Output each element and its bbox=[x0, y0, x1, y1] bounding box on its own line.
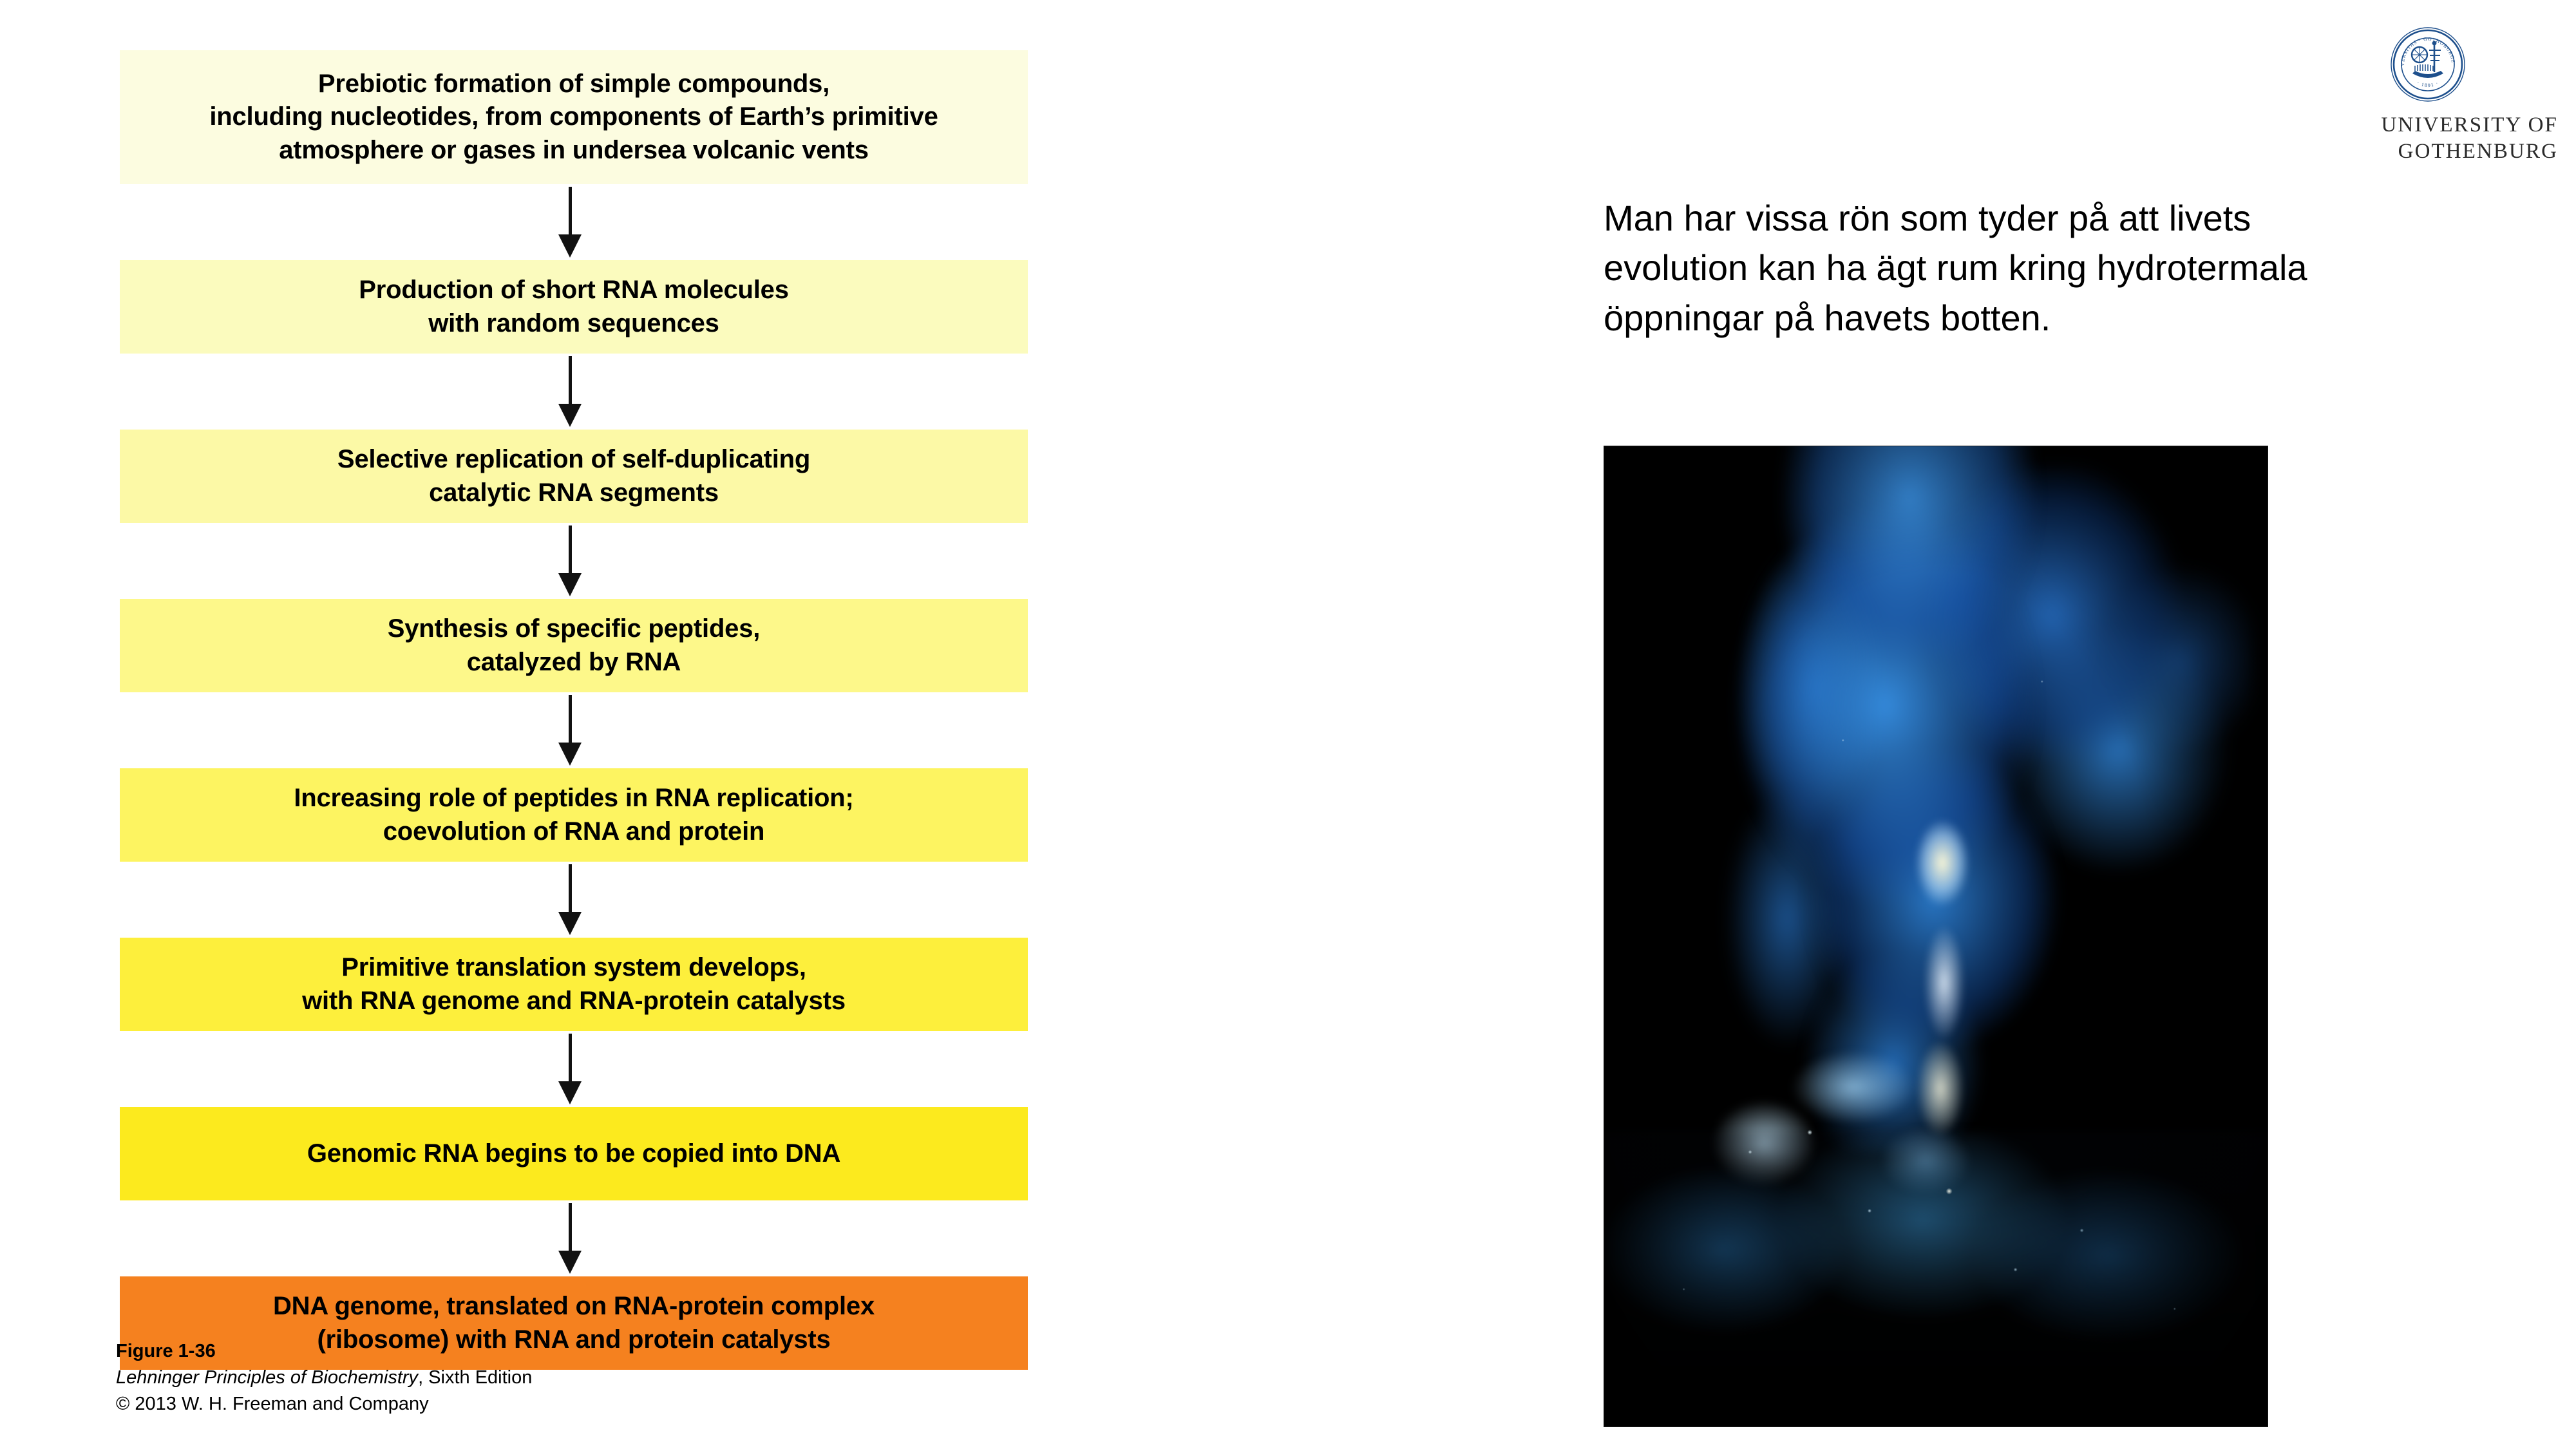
down-arrow-icon bbox=[120, 1031, 1028, 1107]
flow-step-line: coevolution of RNA and protein bbox=[383, 815, 765, 848]
book-edition: , Sixth Edition bbox=[418, 1367, 532, 1388]
svg-text:· 1891 ·: · 1891 · bbox=[2416, 80, 2440, 88]
down-arrow-icon bbox=[120, 862, 1028, 938]
flow-step-box: Increasing role of peptides in RNA repli… bbox=[120, 768, 1028, 862]
flow-step-line: including nucleotides, from components o… bbox=[209, 100, 938, 133]
flow-step-line: Increasing role of peptides in RNA repli… bbox=[294, 782, 853, 815]
arrow-head bbox=[558, 404, 582, 427]
flow-step-box: Prebiotic formation of simple compounds,… bbox=[120, 50, 1028, 184]
university-wordmark: UNIVERSITY OF GOTHENBURG bbox=[2293, 112, 2563, 165]
wordmark-line-1: UNIVERSITY OF bbox=[2293, 112, 2558, 138]
arrow-shaft bbox=[569, 695, 572, 748]
arrow-shaft bbox=[569, 187, 572, 240]
figure-number: Figure 1-36 bbox=[116, 1338, 532, 1365]
figure-caption: Figure 1-36 Lehninger Principles of Bioc… bbox=[116, 1338, 532, 1418]
gothenburg-university-seal-icon: UNIVERSITAS · GOTHOBURGENSIS · 1891 · bbox=[2389, 26, 2467, 103]
arrow-shaft bbox=[569, 356, 572, 409]
arrow-head bbox=[558, 1251, 582, 1274]
arrow-shaft bbox=[569, 864, 572, 917]
book-title: Lehninger Principles of Biochemistry bbox=[116, 1367, 418, 1388]
flow-step-line: with random sequences bbox=[428, 307, 719, 340]
flow-step-box: Selective replication of self-duplicatin… bbox=[120, 430, 1028, 523]
flow-step-line: with RNA genome and RNA-protein catalyst… bbox=[302, 985, 846, 1018]
wordmark-line-2: GOTHENBURG bbox=[2293, 138, 2558, 165]
flow-step-line: Production of short RNA molecules bbox=[359, 274, 789, 307]
rna-world-flow-diagram: Prebiotic formation of simple compounds,… bbox=[120, 50, 1028, 1370]
arrow-head bbox=[558, 573, 582, 596]
flow-step-line: atmosphere or gases in undersea volcanic… bbox=[279, 134, 869, 167]
flow-step-line: catalyzed by RNA bbox=[467, 646, 681, 679]
flow-step-line: catalytic RNA segments bbox=[429, 477, 719, 509]
down-arrow-icon bbox=[120, 523, 1028, 599]
flow-step-line: DNA genome, translated on RNA-protein co… bbox=[273, 1290, 875, 1323]
arrow-head bbox=[558, 912, 582, 935]
arrow-head bbox=[558, 234, 582, 258]
down-arrow-icon bbox=[120, 1200, 1028, 1276]
figure-source: Lehninger Principles of Biochemistry, Si… bbox=[116, 1365, 532, 1391]
flow-step-line: Prebiotic formation of simple compounds, bbox=[318, 68, 829, 100]
seal-wrapper: UNIVERSITAS · GOTHOBURGENSIS · 1891 · bbox=[2293, 26, 2563, 103]
flow-step-box: Production of short RNA moleculeswith ra… bbox=[120, 260, 1028, 354]
swedish-body-text: Man har vissa rön som tyder på att livet… bbox=[1604, 193, 2363, 343]
arrow-shaft bbox=[569, 1034, 572, 1086]
university-logo: UNIVERSITAS · GOTHOBURGENSIS · 1891 · UN… bbox=[2293, 26, 2563, 165]
down-arrow-icon bbox=[120, 354, 1028, 430]
arrow-shaft bbox=[569, 1203, 572, 1256]
flow-step-box: Genomic RNA begins to be copied into DNA bbox=[120, 1107, 1028, 1200]
down-arrow-icon bbox=[120, 184, 1028, 260]
flow-step-line: Genomic RNA begins to be copied into DNA bbox=[307, 1137, 840, 1170]
arrow-head bbox=[558, 743, 582, 766]
down-arrow-icon bbox=[120, 692, 1028, 768]
arrow-head bbox=[558, 1081, 582, 1104]
figure-copyright: © 2013 W. H. Freeman and Company bbox=[116, 1391, 532, 1417]
arrow-shaft bbox=[569, 526, 572, 578]
photo-vignette bbox=[1604, 446, 2268, 1426]
flow-step-line: Primitive translation system develops, bbox=[341, 951, 806, 984]
flow-step-box: Synthesis of specific peptides,catalyzed… bbox=[120, 599, 1028, 692]
flow-step-line: Selective replication of self-duplicatin… bbox=[337, 443, 810, 476]
flow-step-box: Primitive translation system develops,wi… bbox=[120, 938, 1028, 1031]
hydrothermal-vent-photo bbox=[1604, 446, 2268, 1427]
flow-step-line: Synthesis of specific peptides, bbox=[388, 612, 760, 645]
